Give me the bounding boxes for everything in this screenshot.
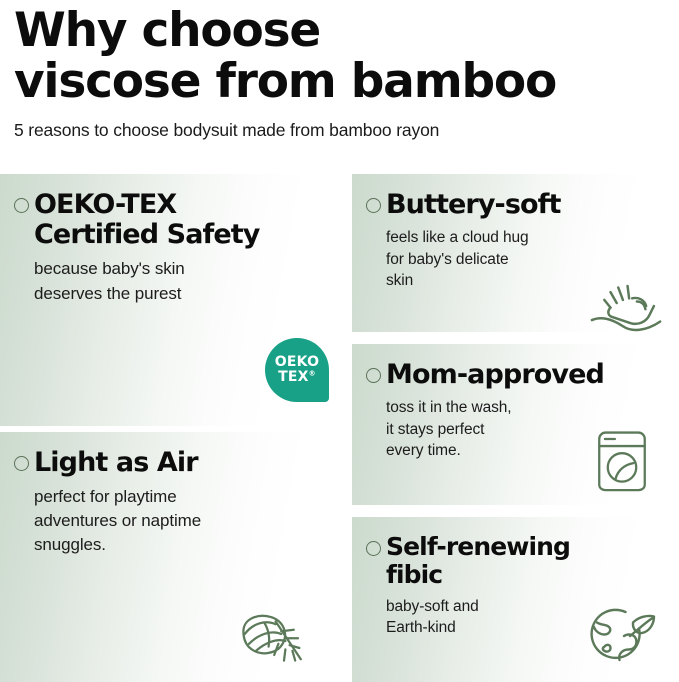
benefit-card-light-as-air: Light as Air perfect for playtime advent… <box>0 432 332 682</box>
bullet-circle-icon <box>14 198 29 213</box>
card-title: Self-renewing fibic <box>386 533 570 589</box>
card-body-text: because baby's skin deserves the purest <box>34 257 314 305</box>
benefit-card-self-renewing: Self-renewing fibic baby-soft and Earth-… <box>352 517 679 682</box>
card-body-text: toss it in the wash, it stays perfect ev… <box>386 397 661 461</box>
card-title: Buttery-soft <box>386 190 561 220</box>
benefit-card-mom-approved: Mom-approved toss it in the wash, it sta… <box>352 344 679 505</box>
bullet-circle-icon <box>366 198 381 213</box>
benefit-card-buttery-soft: Buttery-soft feels like a cloud hug for … <box>352 174 679 332</box>
card-title: Mom-approved <box>386 360 604 390</box>
badge-line-one: OEKO <box>275 355 319 370</box>
page-subtitle: 5 reasons to choose bodysuit made from b… <box>14 120 665 141</box>
card-body-text: feels like a cloud hug for baby's delica… <box>386 227 661 291</box>
badge-line-two-text: TEX <box>278 369 309 385</box>
oeko-tex-certification-badge: OEKO TEX® <box>265 338 329 402</box>
card-body-text: baby-soft and Earth-kind <box>386 596 661 639</box>
feather-icon <box>232 606 308 676</box>
header: Why choose viscose from bamboo 5 reasons… <box>0 0 679 141</box>
bullet-circle-icon <box>366 541 381 556</box>
card-heading-row: OEKO-TEX Certified Safety <box>14 190 314 250</box>
card-title: OEKO-TEX Certified Safety <box>34 190 259 250</box>
card-title: Light as Air <box>34 448 198 478</box>
badge-line-two: TEX® <box>278 370 316 385</box>
benefits-grid: OEKO-TEX Certified Safety because baby's… <box>0 174 679 682</box>
bullet-circle-icon <box>14 456 29 471</box>
card-heading-row: Mom-approved <box>366 360 661 390</box>
left-column: OEKO-TEX Certified Safety because baby's… <box>0 174 332 682</box>
page-title: Why choose viscose from bamboo <box>14 6 665 108</box>
card-heading-row: Buttery-soft <box>366 190 661 220</box>
right-column: Buttery-soft feels like a cloud hug for … <box>352 174 679 682</box>
card-body-text: perfect for playtime adventures or napti… <box>34 485 314 557</box>
bullet-circle-icon <box>366 368 381 383</box>
card-heading-row: Light as Air <box>14 448 314 478</box>
card-heading-row: Self-renewing fibic <box>366 533 661 589</box>
badge-registered-mark: ® <box>309 369 316 377</box>
